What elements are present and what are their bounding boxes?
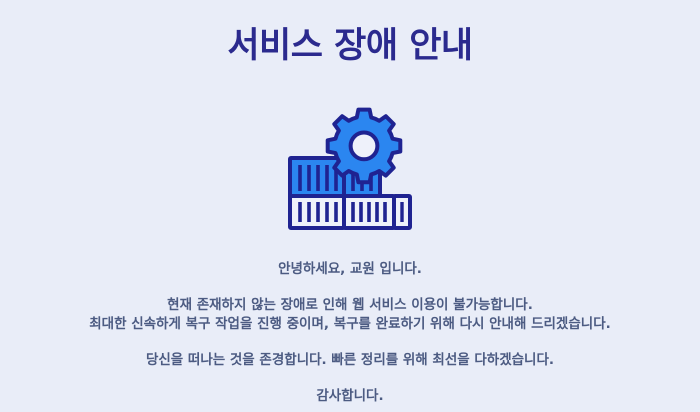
message-respect-line: 당신을 떠나는 것을 존경합니다. 빠른 정리를 위해 최선을 다하겠습니다. <box>0 351 700 370</box>
message-greeting: 안녕하세요, 교원 입니다. <box>0 260 700 279</box>
container-bottom-middle-icon <box>344 196 394 228</box>
page-title: 서비스 장애 안내 <box>0 24 700 68</box>
service-notice-page: 서비스 장애 안내 <box>0 0 700 412</box>
gear-center-hole-icon <box>351 133 378 160</box>
gear-icon <box>328 110 401 183</box>
message-detail-line-1: 현재 존재하지 않는 장애로 인해 웹 서비스 이용이 불가능합니다. <box>0 296 700 315</box>
message-detail-line-2: 최대한 신속하게 복구 작업을 진행 중이며, 복구를 완료하기 위해 다시 안… <box>0 315 700 334</box>
message-block: 안녕하세요, 교원 입니다. 현재 존재하지 않는 장애로 인해 웹 서비스 이… <box>0 260 700 406</box>
container-bottom-left-icon <box>290 196 344 228</box>
container-bottom-right-icon <box>394 196 410 228</box>
message-thanks: 감사합니다. <box>0 387 700 406</box>
server-containers-gear-illustration <box>288 106 412 230</box>
